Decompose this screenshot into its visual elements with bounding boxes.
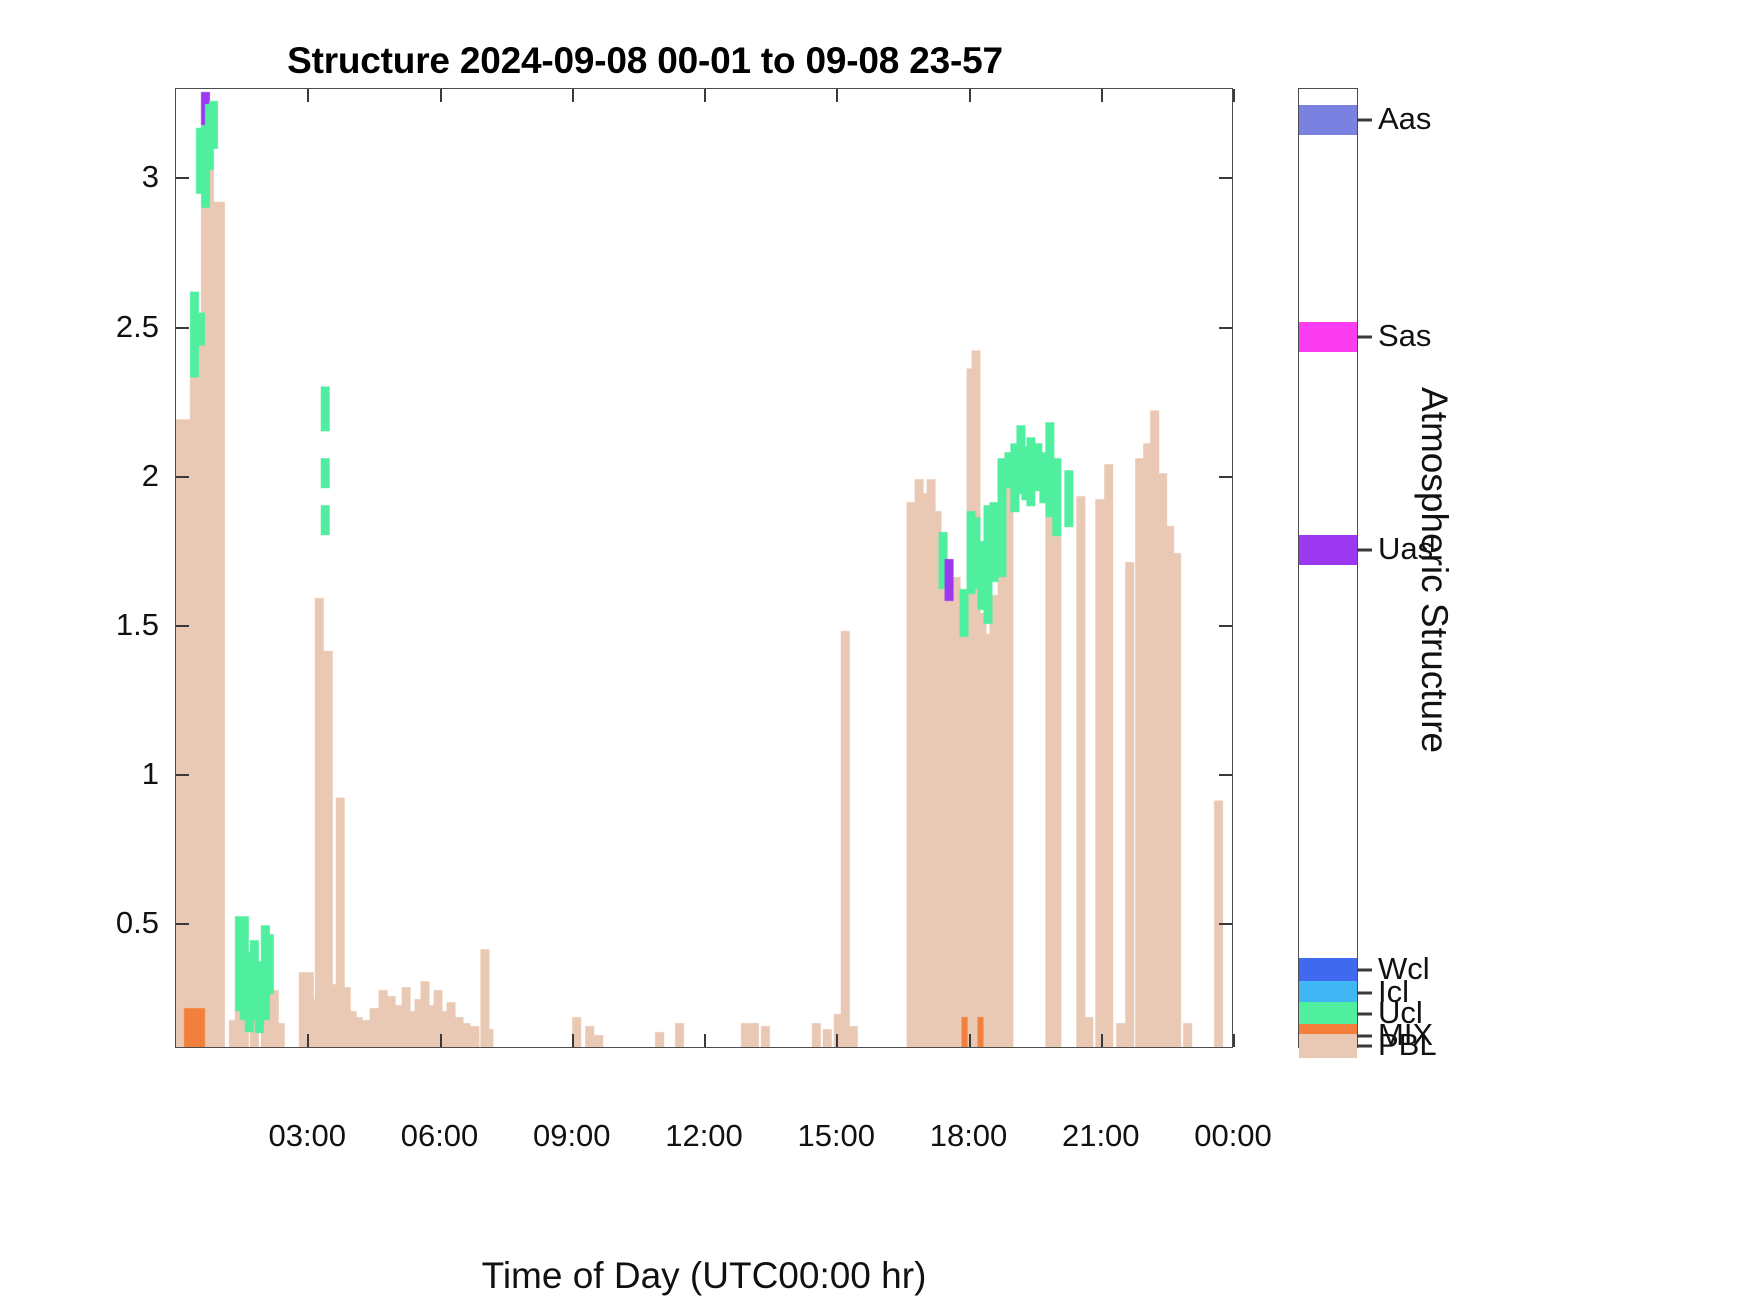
- colorbar-axis-label: Atmospheric Structure: [1413, 360, 1455, 780]
- y-tick-label: 3: [142, 159, 159, 195]
- y-tick-mark: [176, 774, 189, 776]
- x-tick-label: 00:00: [1194, 1118, 1272, 1154]
- x-tick-mark: [704, 1034, 706, 1047]
- x-tick-mark: [969, 89, 971, 102]
- x-tick-mark: [1101, 89, 1103, 102]
- y-tick-mark: [1219, 774, 1232, 776]
- x-tick-mark: [1233, 1034, 1235, 1047]
- colorbar-segment-wcl: [1299, 958, 1357, 982]
- y-tick-label: 0.5: [116, 905, 159, 941]
- y-tick-mark: [1219, 625, 1232, 627]
- y-tick-label: 1.5: [116, 607, 159, 643]
- y-tick-label: 1: [142, 756, 159, 792]
- x-tick-mark: [836, 1034, 838, 1047]
- x-tick-mark: [440, 89, 442, 102]
- x-tick-label: 18:00: [930, 1118, 1008, 1154]
- x-tick-mark: [969, 1034, 971, 1047]
- figure-root: Structure 2024-09-08 00-01 to 09-08 23-5…: [0, 0, 1750, 1313]
- colorbar-tick-mark: [1357, 969, 1372, 972]
- y-tick-mark: [176, 327, 189, 329]
- x-tick-label: 21:00: [1062, 1118, 1140, 1154]
- colorbar-label-sas: Sas: [1378, 318, 1431, 354]
- structure-timeheight-plot: [176, 89, 1232, 1047]
- x-tick-mark: [307, 89, 309, 102]
- x-tick-label: 03:00: [268, 1118, 346, 1154]
- colorbar-tick-mark: [1357, 118, 1372, 121]
- y-tick-mark: [1219, 177, 1232, 179]
- x-tick-mark: [440, 1034, 442, 1047]
- chart-title: Structure 2024-09-08 00-01 to 09-08 23-5…: [0, 40, 1290, 82]
- colorbar-tick-mark: [1357, 548, 1372, 551]
- x-tick-label: 09:00: [533, 1118, 611, 1154]
- y-tick-label: 2.5: [116, 309, 159, 345]
- x-tick-mark: [572, 1034, 574, 1047]
- colorbar-tick-mark: [1357, 1013, 1372, 1016]
- colorbar-label-pbl: PBL: [1378, 1027, 1437, 1063]
- colorbar: [1298, 88, 1358, 1048]
- x-tick-mark: [572, 89, 574, 102]
- y-tick-mark: [1219, 923, 1232, 925]
- y-tick-label: 2: [142, 458, 159, 494]
- x-axis-label: Time of Day (UTC00:00 hr): [175, 1255, 1233, 1297]
- x-tick-mark: [1233, 89, 1235, 102]
- colorbar-tick-mark: [1357, 1034, 1372, 1037]
- colorbar-segment-sas: [1299, 322, 1357, 352]
- y-tick-mark: [1219, 476, 1232, 478]
- colorbar-tick-mark: [1357, 1045, 1372, 1048]
- y-tick-mark: [176, 625, 189, 627]
- colorbar-tick-mark: [1357, 335, 1372, 338]
- colorbar-tick-mark: [1357, 992, 1372, 995]
- x-tick-mark: [836, 89, 838, 102]
- colorbar-segment-uas: [1299, 535, 1357, 565]
- colorbar-segment-pbl: [1299, 1034, 1357, 1058]
- y-tick-mark: [176, 923, 189, 925]
- x-tick-label: 15:00: [797, 1118, 875, 1154]
- y-tick-mark: [176, 476, 189, 478]
- colorbar-label-aas: Aas: [1378, 101, 1431, 137]
- colorbar-segment-aas: [1299, 105, 1357, 135]
- x-tick-label: 06:00: [401, 1118, 479, 1154]
- x-tick-label: 12:00: [665, 1118, 743, 1154]
- y-tick-mark: [1219, 327, 1232, 329]
- x-tick-mark: [307, 1034, 309, 1047]
- x-tick-mark: [704, 89, 706, 102]
- y-tick-mark: [176, 177, 189, 179]
- plot-axes: [175, 88, 1233, 1048]
- x-tick-mark: [1101, 1034, 1103, 1047]
- colorbar-segment-ucl: [1299, 1002, 1357, 1026]
